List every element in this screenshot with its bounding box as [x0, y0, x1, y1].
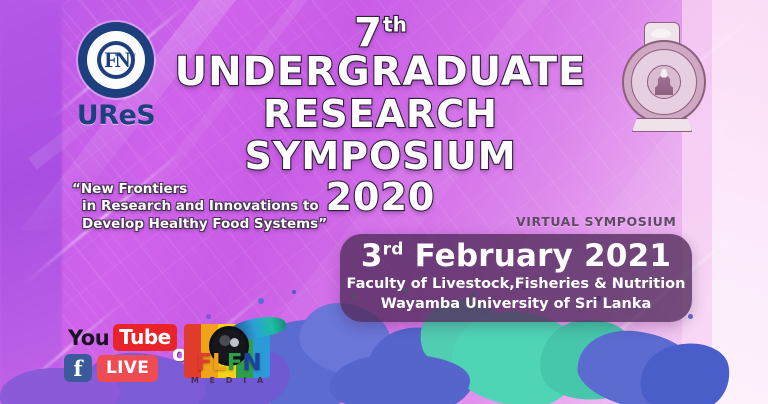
youtube-tube-text: Tube [113, 324, 177, 351]
virtual-symposium-label: VIRTUAL SYMPOSIUM [516, 214, 676, 229]
splatter-blob [330, 354, 470, 404]
splatter-drop [258, 298, 264, 304]
event-details-card: 3rd February 2021 Faculty of Livestock,F… [340, 234, 692, 322]
facebook-icon: f [64, 354, 92, 382]
badge-monogram: FN [104, 47, 127, 73]
theme-line-2: in Research and Innovations to [82, 198, 372, 215]
crest-text-ring [631, 49, 697, 115]
crest-center [647, 65, 681, 99]
title-line-3: SYMPOSIUM [158, 138, 603, 175]
badge-core: FN [101, 45, 131, 75]
flfn-lettermark: FLFN [186, 352, 272, 375]
live-label: LIVE [97, 355, 158, 382]
flfn-media-word: M E D I A [186, 376, 272, 385]
event-month-year: February 2021 [415, 238, 672, 274]
ures-wordmark: UReS [70, 100, 162, 131]
splatter-drop [688, 314, 693, 319]
flfn-letter: L [212, 350, 227, 376]
flfn-letter: F [227, 350, 243, 376]
flfn-letter: F [196, 350, 212, 376]
facebook-live-badge[interactable]: f LIVE [64, 354, 158, 382]
flfn-letter: N [242, 350, 261, 376]
wayamba-university-crest-icon [614, 22, 710, 132]
splatter-drop [292, 290, 296, 294]
title-line-1: 7th UNDERGRADUATE [158, 14, 603, 92]
ures-logo: ل N ل أ FN UReS [70, 22, 162, 131]
event-university: Wayamba University of Sri Lanka [340, 295, 692, 313]
theme-line-1: “New Frontiers [72, 181, 372, 198]
title-line-2: RESEARCH [158, 96, 603, 133]
event-day-suffix: rd [383, 240, 404, 260]
ures-badge-icon: ل N ل أ FN [78, 22, 154, 98]
event-date: 3rd February 2021 [340, 240, 692, 273]
crest-outer-ring [622, 40, 706, 124]
event-faculty: Faculty of Livestock,Fisheries & Nutriti… [340, 275, 692, 293]
splatter-drop [206, 314, 211, 319]
flfn-media-logo[interactable]: FLFN M E D I A [176, 320, 282, 392]
youtube-you-text: You [68, 326, 109, 350]
title-word-undergraduate: UNDERGRADUATE [175, 49, 587, 95]
symposium-theme: “New Frontiers in Research and Innovatio… [72, 181, 372, 233]
symposium-poster: ل N ل أ FN UReS 7th UNDERGRADUATE RESEAR [0, 0, 768, 404]
crest-base-scroll [632, 118, 692, 132]
theme-line-3: Develop Healthy Food Systems” [82, 216, 372, 233]
crest-lamp-icon [655, 69, 673, 95]
event-day: 3 [361, 238, 383, 274]
youtube-badge[interactable]: You Tube [68, 324, 177, 351]
title-ordinal-suffix: th [383, 13, 407, 37]
